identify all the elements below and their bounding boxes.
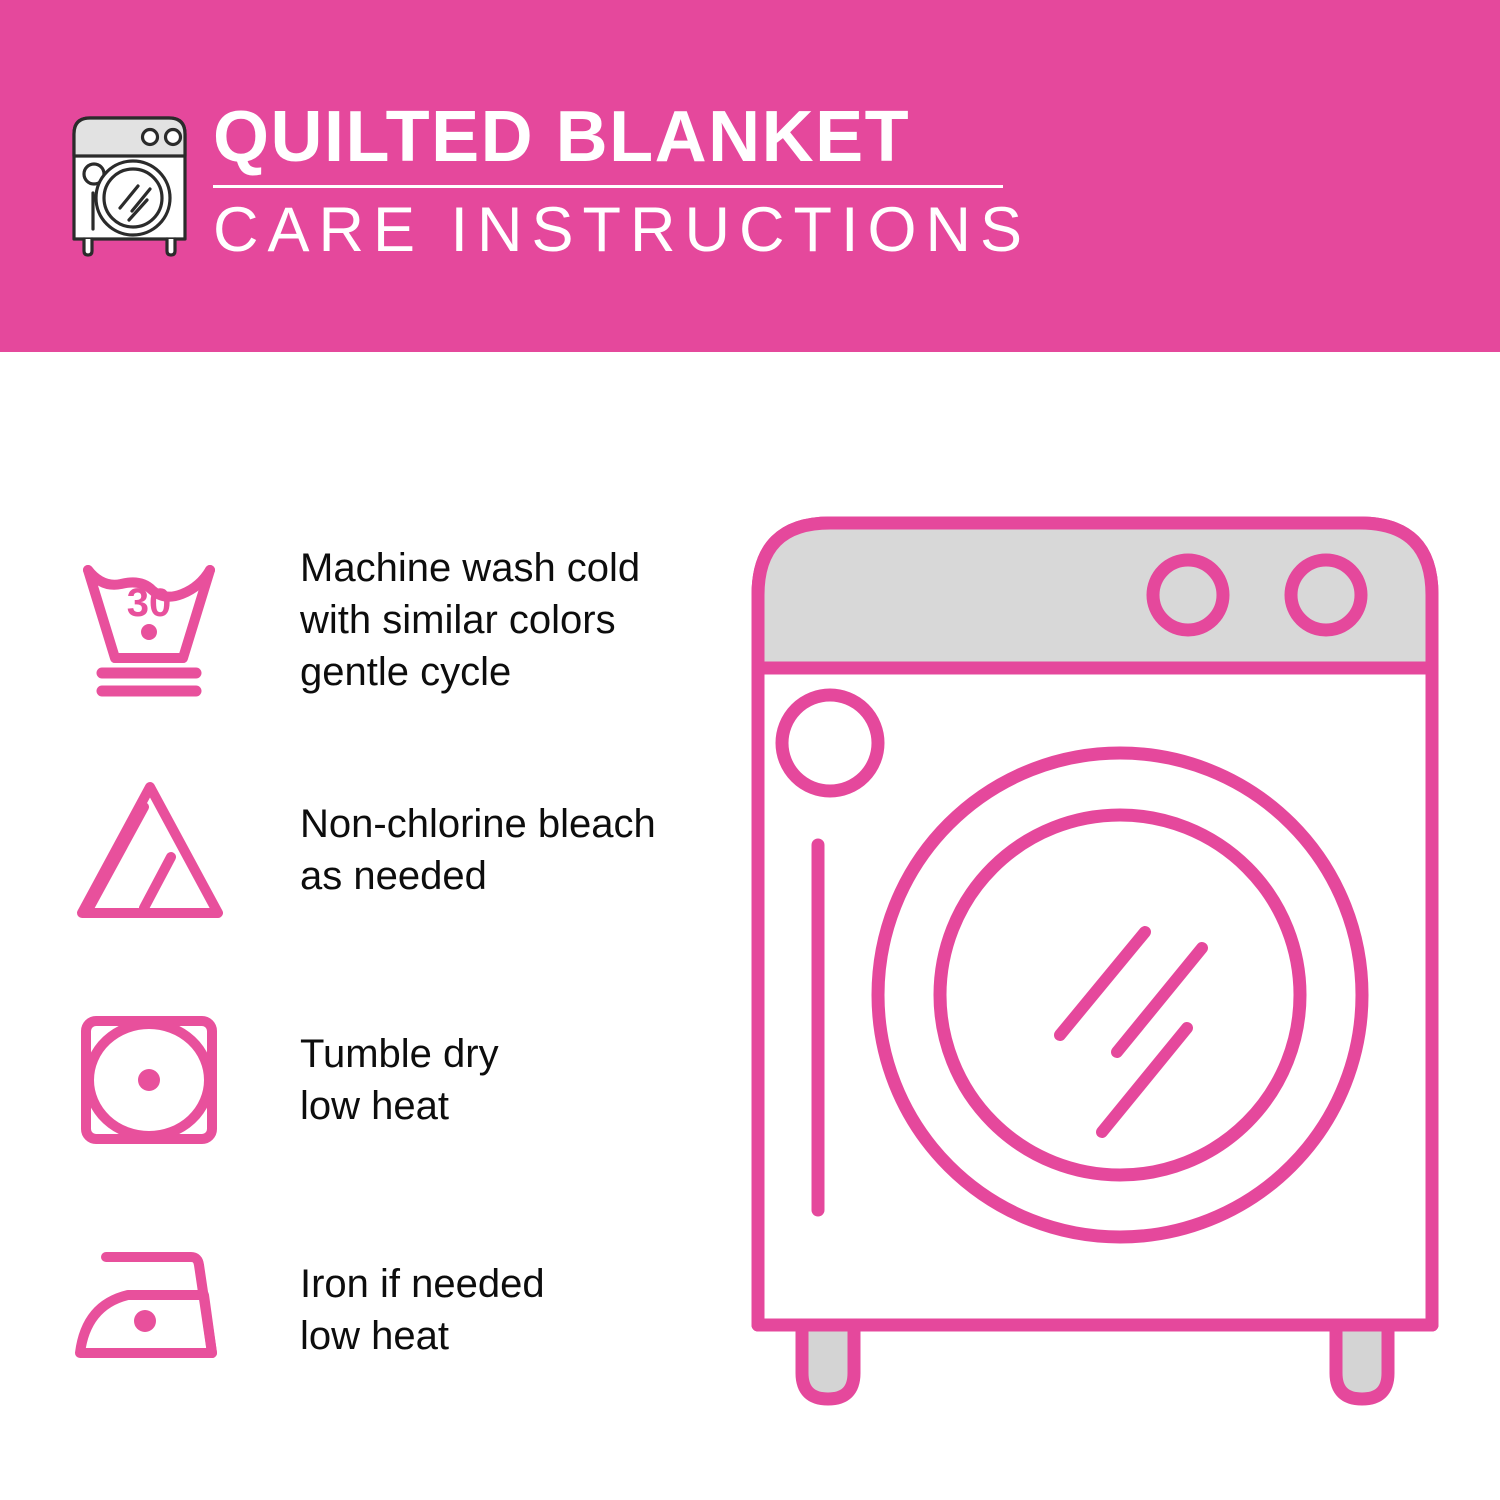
page-subtitle: CARE INSTRUCTIONS <box>213 199 1031 262</box>
instruction-line: gentle cycle <box>300 646 640 698</box>
instruction-line: low heat <box>300 1080 499 1132</box>
instruction-line: Non-chlorine bleach <box>300 798 656 850</box>
iron-low-heat-icon <box>70 1223 245 1398</box>
wash-basin-30-icon: 30 <box>70 533 245 708</box>
header-text-column: QUILTED BLANKET CARE INSTRUCTIONS <box>213 98 1031 262</box>
front-load-washing-machine-illustration <box>740 495 1450 1425</box>
list-item: Iron if needed low heat <box>70 1195 730 1425</box>
wash-temperature-value: 30 <box>127 581 172 625</box>
instruction-line: Tumble dry <box>300 1028 499 1080</box>
dispenser-circle <box>782 695 878 791</box>
list-item: Tumble dry low heat <box>70 965 730 1195</box>
instruction-text: Iron if needed low heat <box>300 1258 545 1362</box>
washing-machine-icon <box>62 98 197 258</box>
care-instruction-list: 30 Machine wash cold with similar colors… <box>70 505 730 1425</box>
list-item: 30 Machine wash cold with similar colors… <box>70 505 730 735</box>
instruction-line: with similar colors <box>300 594 640 646</box>
tumble-dry-low-icon <box>70 993 245 1168</box>
instruction-line: low heat <box>300 1310 545 1362</box>
header-content: QUILTED BLANKET CARE INSTRUCTIONS <box>62 98 1031 262</box>
instruction-line: Iron if needed <box>300 1258 545 1310</box>
instruction-line: as needed <box>300 850 656 902</box>
leg-right <box>1336 1325 1388 1399</box>
door-inner-ring <box>940 815 1300 1175</box>
leg-left <box>802 1325 854 1399</box>
header-band: QUILTED BLANKET CARE INSTRUCTIONS <box>0 0 1500 352</box>
page-title: QUILTED BLANKET <box>213 102 1031 173</box>
instruction-text: Tumble dry low heat <box>300 1028 499 1132</box>
instruction-line: Machine wash cold <box>300 542 640 594</box>
instruction-text: Machine wash cold with similar colors ge… <box>300 542 640 698</box>
non-chlorine-bleach-triangle-icon <box>70 763 245 938</box>
instruction-text: Non-chlorine bleach as needed <box>300 798 656 902</box>
header-divider <box>213 185 1003 188</box>
list-item: Non-chlorine bleach as needed <box>70 735 730 965</box>
